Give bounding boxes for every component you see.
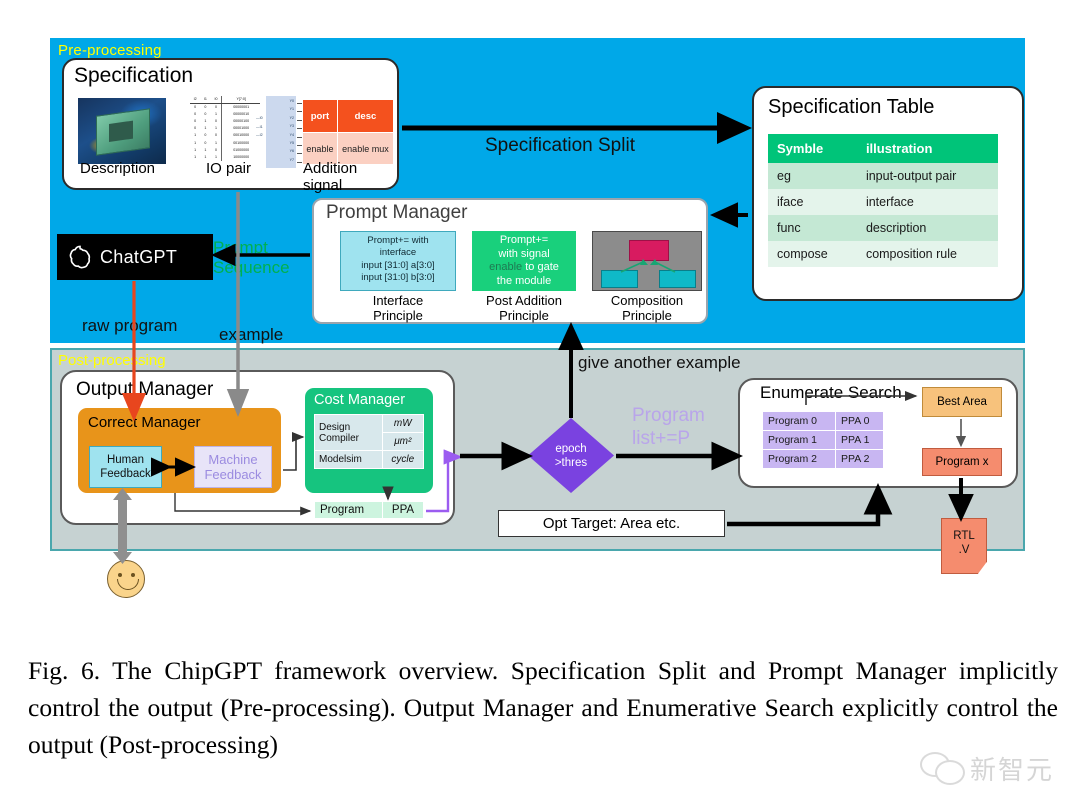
- enumerate-search-row: Program 0PPA 0: [763, 412, 884, 431]
- output-manager-title: Output Manager: [76, 379, 213, 401]
- io-th: I2: [190, 96, 200, 104]
- io-cell: 00100000: [222, 140, 260, 147]
- io-cell: 0: [211, 147, 222, 154]
- caption-description: Description: [80, 160, 155, 177]
- io-cell: 0: [190, 125, 200, 132]
- wechat-bubble-icon-2: [935, 760, 965, 785]
- io-th: I1: [200, 96, 210, 104]
- io-table-row: 10100100000: [190, 140, 260, 147]
- decoder-input-label: —I0: [256, 116, 263, 120]
- epoch-threshold-decision: epoch >thres: [528, 418, 614, 493]
- decoder-output-label: Y0: [290, 99, 294, 103]
- epoch-line-0: epoch: [555, 442, 586, 456]
- enumerate-search-cell: Program 0: [763, 412, 836, 431]
- io-table-row: 01100001000: [190, 125, 260, 132]
- chatgpt-node: ChatGPT: [57, 234, 213, 280]
- specification-table-cell: composition rule: [857, 241, 998, 267]
- enumerate-search-cell: PPA 2: [836, 450, 884, 469]
- io-cell: 1: [200, 118, 210, 125]
- interface-principle-box: Prompt+= with interface input [31:0] a[3…: [340, 231, 456, 291]
- io-cell: 0: [190, 104, 200, 112]
- specification-table-row: composecomposition rule: [768, 241, 998, 267]
- user-smiley-icon: [107, 560, 145, 598]
- pm1-line-3: input [31:0] b[3:0]: [341, 272, 455, 284]
- io-cell: 0: [190, 118, 200, 125]
- cost-row-0-unit: mW: [382, 415, 423, 433]
- post-addition-principle-box: Prompt+= with signal enable to gate the …: [472, 231, 576, 291]
- openai-logo-icon: [67, 244, 93, 270]
- post-addition-principle-caption: Post AdditionPrinciple: [470, 293, 578, 323]
- enumerate-search-table: Program 0PPA 0Program 1PPA 1Program 2PPA…: [762, 411, 884, 469]
- chatgpt-label: ChatGPT: [100, 247, 177, 268]
- cost-row-0-label: DesignCompiler: [315, 415, 383, 451]
- decoder-input-label: —I2: [256, 133, 263, 137]
- post-processing-label: Post-processing: [58, 352, 166, 369]
- decoder-input-label: —I1: [256, 125, 263, 129]
- io-cell: 0: [200, 104, 210, 112]
- io-cell: 00000010: [222, 111, 260, 118]
- decoder-output-label: Y6: [290, 149, 294, 153]
- ppa-cell: PPA: [383, 502, 424, 519]
- io-truth-table: I2 I1 I0 Y[7:0] 000000000010010000001001…: [190, 96, 260, 168]
- io-table-row: 00100000010: [190, 111, 260, 118]
- opt-target-box: Opt Target: Area etc.: [498, 510, 725, 537]
- io-cell: 1: [211, 140, 222, 147]
- enumerate-search-cell: Program 1: [763, 431, 836, 450]
- pm2-line-2: enable to gate: [472, 261, 576, 275]
- composition-principle-caption: CompositionPrinciple: [592, 293, 702, 323]
- addition-signal-table: port desc enable enable mux: [302, 99, 394, 165]
- specification-table-cell: input-output pair: [857, 163, 998, 189]
- addsig-header-port: port: [303, 100, 338, 133]
- caption-addition-signal: Addition signal: [303, 160, 396, 194]
- io-th: Y[7:0]: [222, 96, 260, 104]
- caption-io-pair: IO pair: [206, 160, 251, 177]
- io-cell: 1: [211, 125, 222, 132]
- cost-manager-table: DesignCompiler mW μm² Modelsim cycle: [314, 414, 424, 469]
- enumerate-search-cell: PPA 1: [836, 431, 884, 450]
- specification-table: Symble illustration eginput-output pairi…: [768, 134, 998, 267]
- human-feedback-box: HumanFeedback: [89, 446, 162, 488]
- machine-feedback-label: MachineFeedback: [204, 452, 261, 482]
- edge-label-prompt-sequence: PromptSequence: [213, 238, 290, 278]
- cost-row-2-label: Modelsim: [315, 451, 383, 469]
- io-cell: 0: [211, 132, 222, 139]
- enumerate-search-row: Program 2PPA 2: [763, 450, 884, 469]
- enumerate-search-row: Program 1PPA 1: [763, 431, 884, 450]
- pm1-line-1: interface: [341, 247, 455, 259]
- decoder-output-label: Y5: [290, 141, 294, 145]
- epoch-line-1: >thres: [555, 456, 587, 470]
- addsig-header-desc: desc: [337, 100, 393, 133]
- specification-table-cell: description: [857, 215, 998, 241]
- specification-captions: Description IO pair Addition signal: [66, 160, 396, 184]
- io-cell: 00001000: [222, 125, 260, 132]
- specification-table-cell: interface: [857, 189, 998, 215]
- enumerate-search-title: Enumerate Search: [760, 383, 902, 403]
- machine-feedback-box: MachineFeedback: [194, 446, 272, 488]
- cost-row-1-unit: μm²: [382, 433, 423, 451]
- edge-label-give-another-example: give another example: [578, 353, 741, 373]
- pm1-line-0: Prompt+= with: [341, 235, 455, 247]
- composition-principle-diagram: [592, 231, 702, 291]
- prompt-manager-title: Prompt Manager: [326, 202, 468, 224]
- chip-photo-icon: [78, 98, 166, 164]
- spectbl-header-illustration: illustration: [857, 134, 998, 163]
- enumerate-search-cell: PPA 0: [836, 412, 884, 431]
- io-cell: 01000000: [222, 147, 260, 154]
- io-cell: 0: [200, 140, 210, 147]
- io-cell: 1: [200, 125, 210, 132]
- specification-table-cell: compose: [768, 241, 857, 267]
- decoder-output-label: Y4: [290, 133, 294, 137]
- spectbl-header-symble: Symble: [768, 134, 857, 163]
- io-cell: 0: [190, 111, 200, 118]
- io-th: I0: [211, 96, 222, 104]
- io-cell: 0: [211, 118, 222, 125]
- program-x-box: Program x: [922, 448, 1002, 476]
- io-table-row: 00000000001: [190, 104, 260, 112]
- pre-processing-label: Pre-processing: [58, 42, 162, 59]
- specification-table-row: eginput-output pair: [768, 163, 998, 189]
- io-cell: 0: [200, 111, 210, 118]
- io-table-row: 01000000100: [190, 118, 260, 125]
- decoder-output-label: Y2: [290, 116, 294, 120]
- specification-title: Specification: [74, 64, 193, 88]
- enumerate-search-cell: Program 2: [763, 450, 836, 469]
- edge-label-raw-program: raw program: [82, 316, 177, 336]
- specification-table-title: Specification Table: [768, 96, 934, 119]
- rtl-file-node: RTL.V: [941, 518, 987, 574]
- specification-table-row: ifaceinterface: [768, 189, 998, 215]
- decoder-block-icon: Y0Y1Y2Y3Y4Y5Y6Y7—I0—I1—I2: [266, 96, 296, 168]
- human-feedback-label: HumanFeedback: [100, 453, 151, 481]
- io-cell: 1: [190, 132, 200, 139]
- specification-table-row: funcdescription: [768, 215, 998, 241]
- pm2-line-0: Prompt+=: [472, 234, 576, 248]
- cost-row-2-unit: cycle: [382, 451, 423, 469]
- pm2-line-3: the module: [472, 275, 576, 289]
- best-area-box: Best Area: [922, 387, 1002, 417]
- edge-label-program-list: Programlist+=P: [632, 404, 705, 450]
- program-cell: Program: [315, 502, 383, 519]
- edge-label-example: example: [219, 325, 283, 345]
- specification-table-cell: func: [768, 215, 857, 241]
- io-cell: 00010000: [222, 132, 260, 139]
- io-cell: 1: [200, 147, 210, 154]
- figure-caption: Fig. 6. The ChipGPT framework overview. …: [28, 652, 1058, 763]
- io-cell: 1: [190, 147, 200, 154]
- io-cell: 0: [211, 104, 222, 112]
- pm2-highlight: enable: [489, 261, 522, 273]
- pm2-line-1: with signal: [472, 248, 576, 262]
- specification-table-cell: iface: [768, 189, 857, 215]
- decoder-output-label: Y1: [290, 107, 294, 111]
- io-cell: 00000001: [222, 104, 260, 112]
- decoder-output-label: Y3: [290, 124, 294, 128]
- io-cell: 00000100: [222, 118, 260, 125]
- interface-principle-caption: InterfacePrinciple: [340, 293, 456, 323]
- specification-table-cell: eg: [768, 163, 857, 189]
- program-ppa-row: Program PPA: [314, 501, 424, 519]
- io-cell: 1: [211, 111, 222, 118]
- io-table-row: 11001000000: [190, 147, 260, 154]
- cost-manager-title: Cost Manager: [314, 392, 405, 408]
- watermark-text: 新智元: [970, 750, 1054, 787]
- io-cell: 0: [200, 132, 210, 139]
- io-cell: 1: [190, 140, 200, 147]
- watermark: 新智元: [918, 748, 1068, 792]
- io-table-row: 10000010000: [190, 132, 260, 139]
- correct-manager-title: Correct Manager: [88, 414, 201, 431]
- edge-label-specification-split: Specification Split: [485, 135, 635, 157]
- pm1-line-2: input [31:0] a[3:0]: [341, 260, 455, 272]
